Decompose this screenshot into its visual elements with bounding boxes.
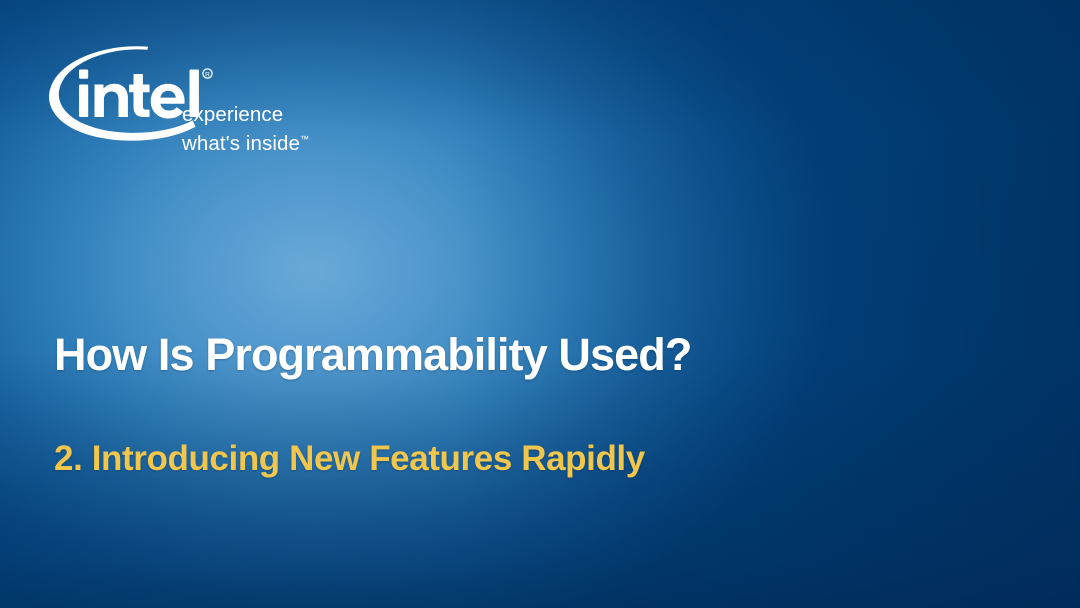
trademark-icon: ™ bbox=[300, 134, 309, 144]
tagline-line-2: what's inside™ bbox=[182, 127, 362, 156]
slide-subheadline: 2. Introducing New Features Rapidly bbox=[54, 440, 645, 478]
tagline-line-2-text: what's inside bbox=[182, 132, 300, 155]
slide-headline: How Is Programmability Used? bbox=[54, 331, 691, 380]
tagline-line-1: experience bbox=[182, 102, 362, 127]
svg-text:R: R bbox=[205, 71, 210, 78]
presentation-slide: R experience what's inside™ How Is Progr… bbox=[0, 0, 1080, 608]
intel-logo: R experience what's inside™ bbox=[44, 44, 334, 170]
registered-trademark-icon: R bbox=[203, 69, 212, 78]
intel-logo-tagline: experience what's inside™ bbox=[182, 102, 362, 156]
intel-wordmark-letters bbox=[79, 70, 199, 119]
